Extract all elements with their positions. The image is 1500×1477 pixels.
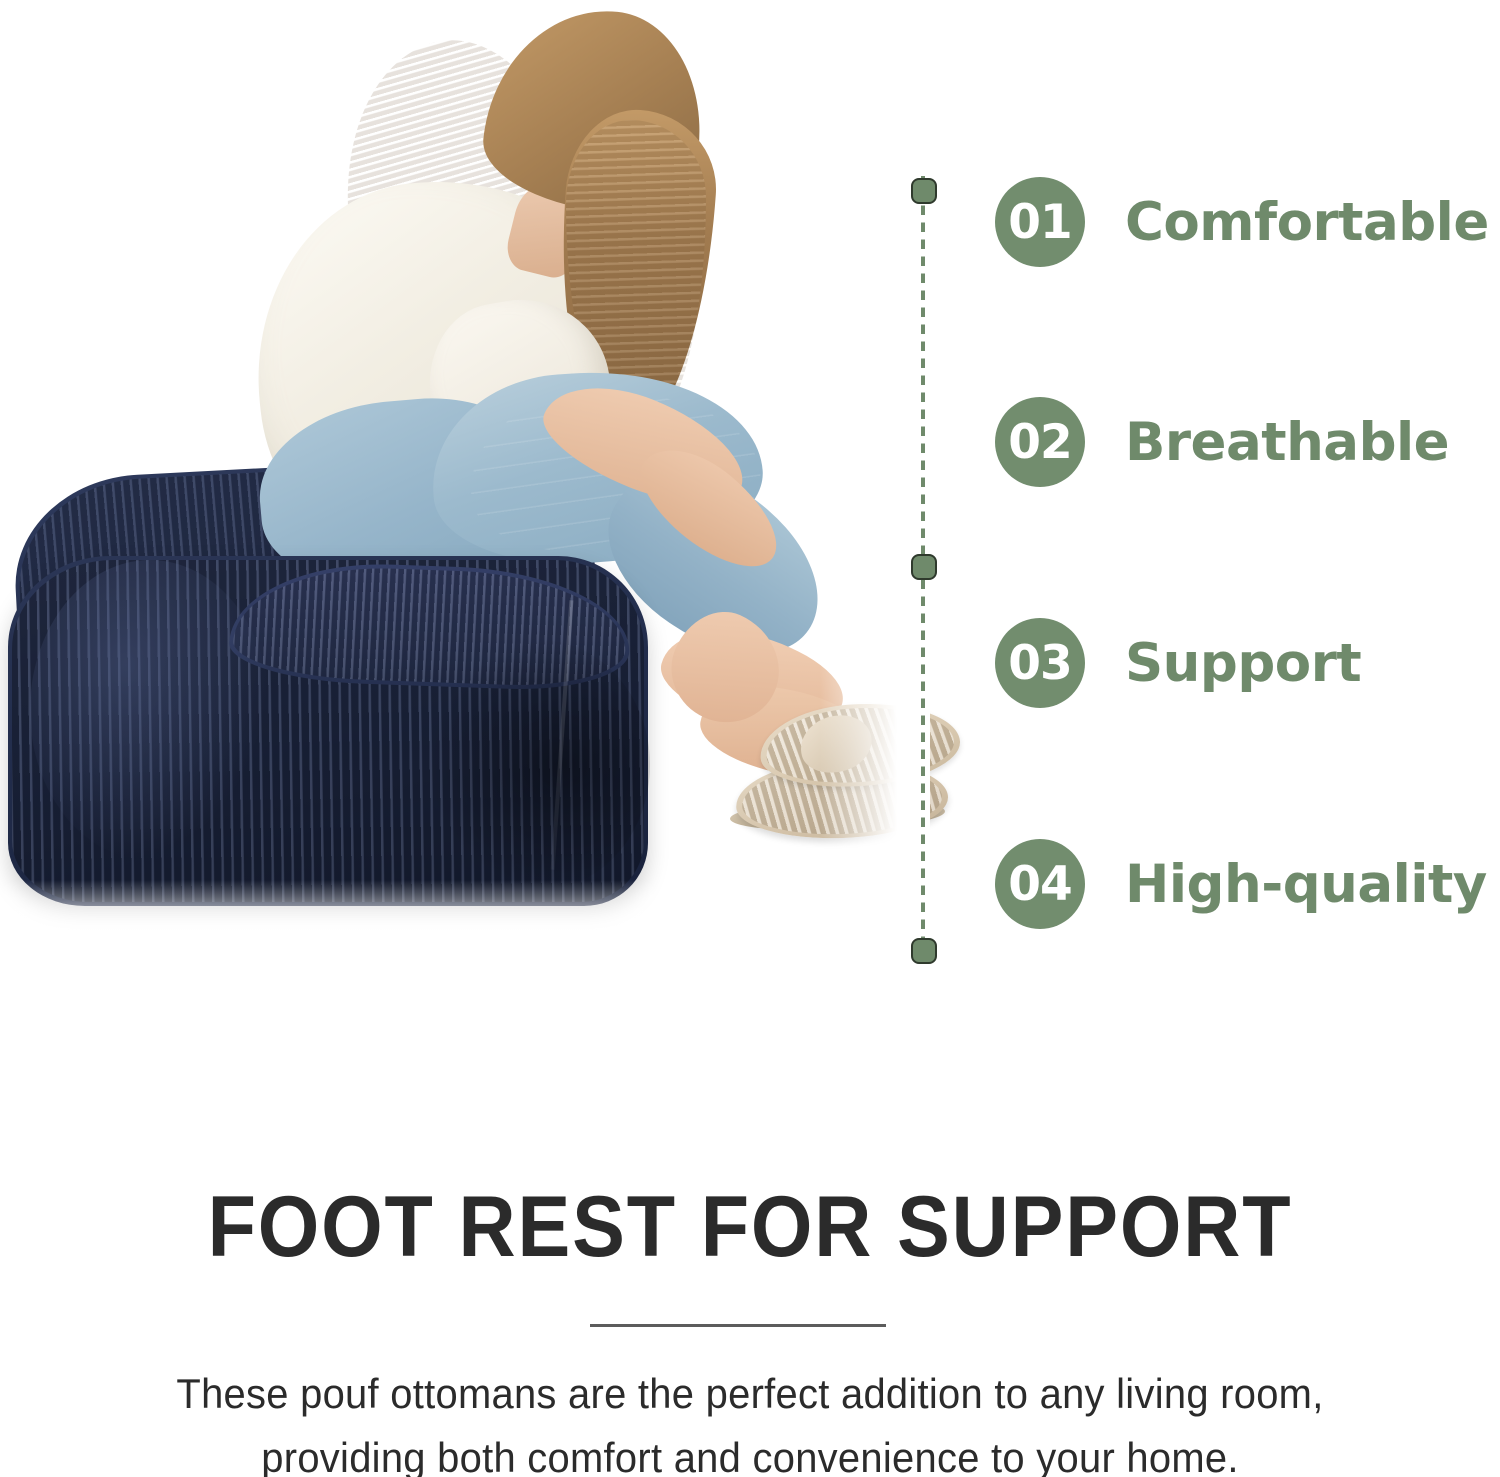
product-photo xyxy=(0,0,900,960)
feature-number-badge: 01 xyxy=(995,177,1085,267)
feature-item-comfortable: 01 Comfortable xyxy=(995,176,1489,268)
feature-label: Breathable xyxy=(1125,412,1449,473)
product-feature-page: 01 Comfortable 02 Breathable 03 Support … xyxy=(0,0,1500,1477)
feature-item-high-quality: 04 High-quality xyxy=(995,838,1487,930)
feature-item-breathable: 02 Breathable xyxy=(995,396,1449,488)
feature-number-badge: 02 xyxy=(995,397,1085,487)
feature-number-badge: 04 xyxy=(995,839,1085,929)
headline-divider xyxy=(590,1324,886,1327)
timeline-node-middle xyxy=(911,554,937,580)
timeline-node-top xyxy=(911,178,937,204)
pouf-shadow xyxy=(430,640,650,890)
feature-label: High-quality xyxy=(1125,854,1487,915)
feature-list: 01 Comfortable 02 Breathable 03 Support … xyxy=(995,0,1500,1010)
timeline-node-bottom xyxy=(911,938,937,964)
hero-section: 01 Comfortable 02 Breathable 03 Support … xyxy=(0,0,1500,1010)
feature-timeline xyxy=(905,176,941,966)
subcopy-line-2: providing both comfort and convenience t… xyxy=(261,1434,1238,1477)
subcopy-line-1: These pouf ottomans are the perfect addi… xyxy=(176,1370,1323,1417)
photo-bottom-fade xyxy=(0,880,680,950)
pouf-highlight xyxy=(30,560,270,860)
feature-label: Comfortable xyxy=(1125,192,1489,253)
feature-item-support: 03 Support xyxy=(995,617,1361,709)
feature-label: Support xyxy=(1125,633,1361,694)
subcopy: These pouf ottomans are the perfect addi… xyxy=(76,1362,1425,1477)
feature-number-badge: 03 xyxy=(995,618,1085,708)
bottom-copy-section: FOOT REST FOR SUPPORT These pouf ottoman… xyxy=(0,1010,1500,1477)
headline: FOOT REST FOR SUPPORT xyxy=(60,1178,1440,1277)
model-figure xyxy=(0,0,900,960)
